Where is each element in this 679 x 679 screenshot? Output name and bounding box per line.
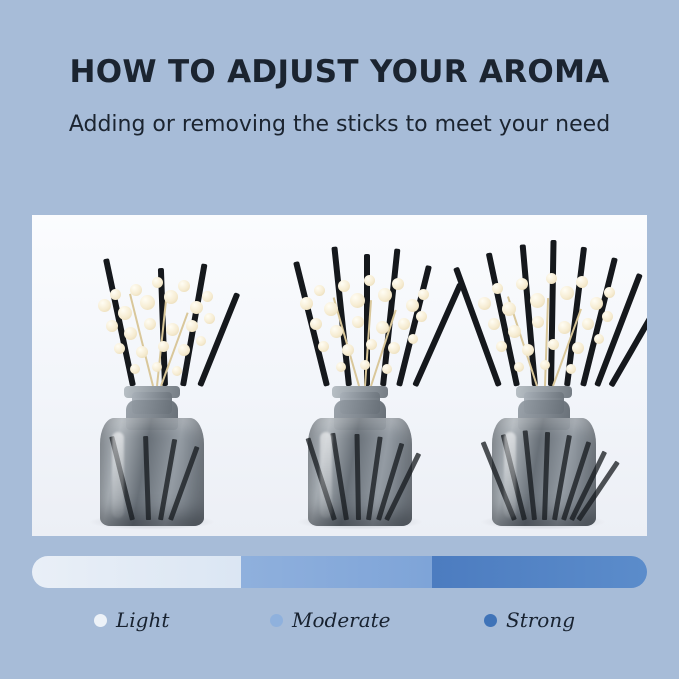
legend-item-light: Light [94, 608, 169, 632]
glass-bottle [492, 386, 596, 526]
legend-dot-icon [270, 614, 283, 627]
legend-item-moderate: Moderate [270, 608, 391, 632]
legend: Light Moderate Strong [32, 608, 647, 644]
promo-infographic: HOW TO ADJUST YOUR AROMA Adding or remov… [0, 0, 679, 679]
page-subtitle: Adding or removing the sticks to meet yo… [0, 112, 679, 137]
page-title: HOW TO ADJUST YOUR AROMA [0, 54, 679, 90]
intensity-segment-strong [432, 556, 647, 588]
glass-bottle [100, 386, 204, 526]
legend-item-label: Moderate [292, 608, 391, 632]
intensity-bar [32, 556, 647, 588]
diffuser-moderate [260, 215, 460, 536]
diffuser-light [52, 215, 252, 536]
intensity-segment-moderate [241, 556, 432, 588]
legend-item-strong: Strong [484, 608, 575, 632]
legend-dot-icon [94, 614, 107, 627]
legend-item-label: Light [116, 608, 169, 632]
legend-item-label: Strong [506, 608, 575, 632]
product-photo-panel [32, 215, 647, 536]
diffuser-strong [440, 215, 645, 536]
intensity-segment-light [32, 556, 241, 588]
glass-bottle [308, 386, 412, 526]
legend-dot-icon [484, 614, 497, 627]
